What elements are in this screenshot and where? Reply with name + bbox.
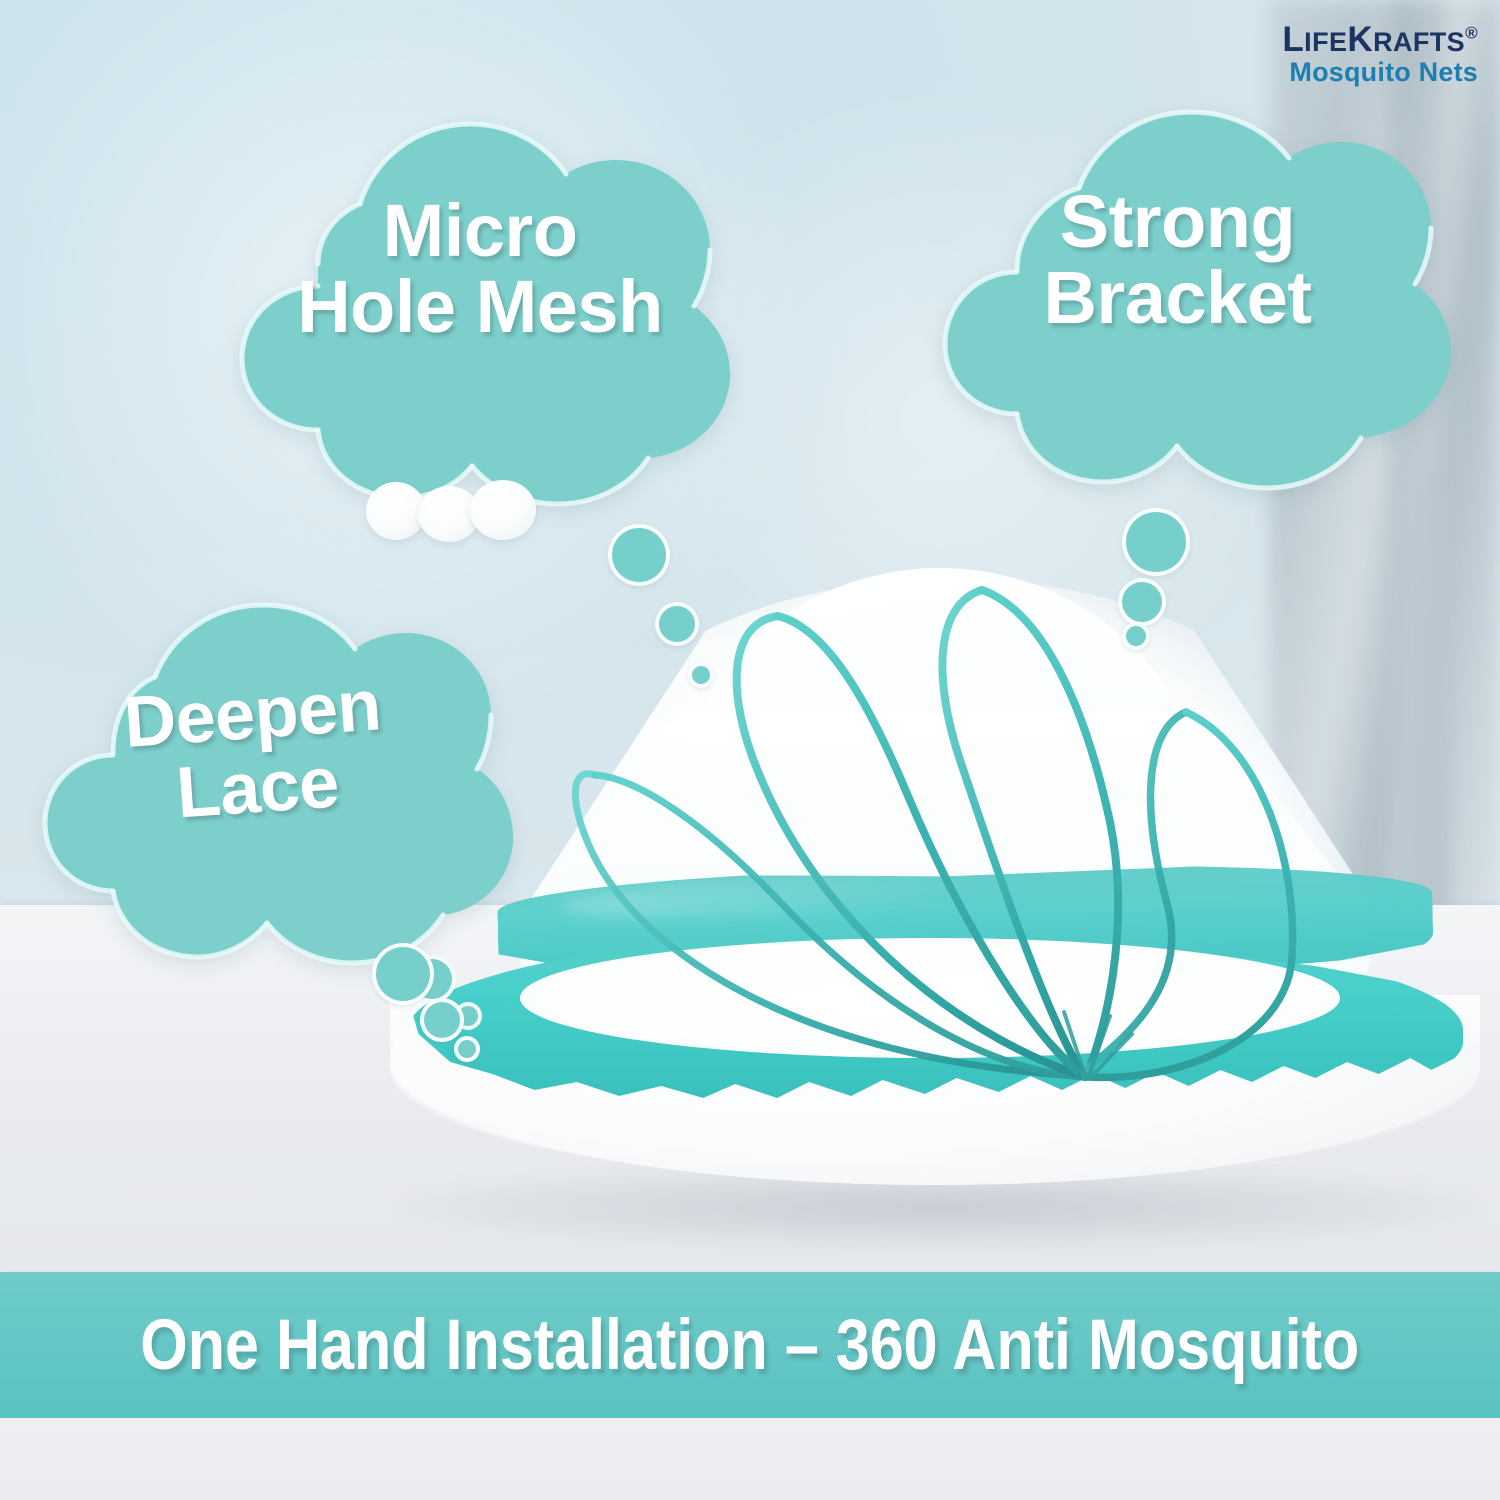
bubble-trail-dot <box>608 524 670 586</box>
bubble-trail-dot <box>655 602 699 646</box>
brand-letter-k: K <box>1347 20 1373 59</box>
feature-bubble-micro-hole-mesh: Micro Hole Mesh <box>180 118 780 518</box>
bubble-trail-dot <box>372 943 434 1005</box>
skirt-fold-highlight <box>580 960 840 1000</box>
registered-trademark-icon: ® <box>1465 23 1478 42</box>
banner-headline: One Hand Installation – 360 Anti Mosquit… <box>140 1305 1359 1386</box>
bubble-trail-dot <box>1122 508 1190 576</box>
bubble-trail-dot <box>420 998 464 1042</box>
feature-bubble-label: Strong Bracket <box>905 184 1450 336</box>
brand-name-part2: RAFTS <box>1373 27 1465 57</box>
brand-name: LIFEKRAFTS® <box>1282 22 1478 57</box>
footer-strip <box>0 1418 1500 1500</box>
bubble-trail-dot <box>688 662 714 688</box>
bottom-headline-banner: One Hand Installation – 360 Anti Mosquit… <box>0 1272 1500 1418</box>
product-photo <box>380 560 1490 1270</box>
bubble-trail-dot <box>1122 622 1150 650</box>
bubble-trail-dot <box>1118 578 1166 626</box>
feature-bubble-strong-bracket: Strong Bracket <box>905 112 1465 502</box>
feature-bubble-deepen-lace: Deepen Lace <box>15 605 515 985</box>
cloud-puff <box>366 482 426 540</box>
bubble-trail-dot <box>454 1036 480 1062</box>
brand-tagline: Mosquito Nets <box>1282 58 1478 87</box>
brand-name-part1: IFE <box>1304 27 1347 57</box>
product-feature-image: Micro Hole Mesh Strong Bracket <box>0 0 1500 1500</box>
feature-bubble-label: Micro Hole Mesh <box>180 193 780 345</box>
brand-logo: LIFEKRAFTS® Mosquito Nets <box>1282 22 1478 87</box>
skirt-fold-highlight <box>1000 980 1240 1014</box>
cloud-puff <box>470 480 536 540</box>
brand-letter-l: L <box>1282 20 1304 59</box>
